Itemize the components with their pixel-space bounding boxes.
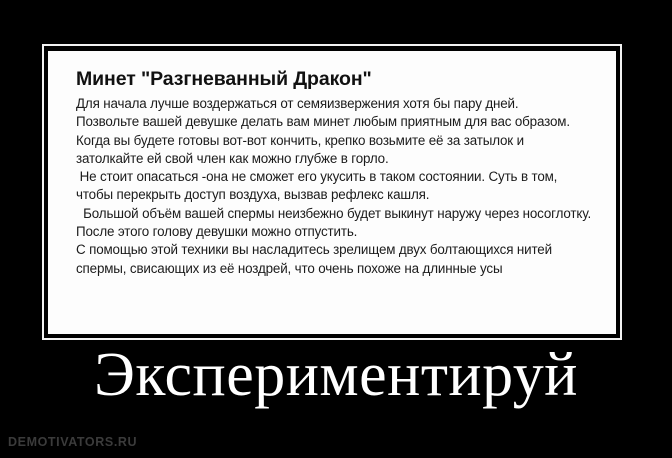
article-paragraph: Для начала лучше воздержаться от семяизв… (76, 95, 594, 113)
article-paragraph: Позвольте вашей девушке делать вам минет… (76, 113, 594, 131)
article-paragraph: Не стоит опасаться -она не сможет его ук… (76, 168, 594, 205)
article-paragraph: Большой объём вашей спермы неизбежно буд… (76, 205, 594, 242)
site-watermark: DEMOTIVATORS.RU (8, 435, 137, 449)
poster-caption: Экспериментируй (0, 341, 672, 409)
demotivator-poster: Минет "Разгневанный Дракон" Для начала л… (0, 0, 672, 458)
article-body: Для начала лучше воздержаться от семяизв… (76, 95, 594, 278)
article-paragraph: Когда вы будете готовы вот-вот кончить, … (76, 132, 594, 169)
article-paragraph: С помощью этой техники вы насладитесь зр… (76, 241, 594, 278)
article-title: Минет "Разгневанный Дракон" (76, 67, 594, 91)
article-panel: Минет "Разгневанный Дракон" Для начала л… (48, 51, 616, 334)
